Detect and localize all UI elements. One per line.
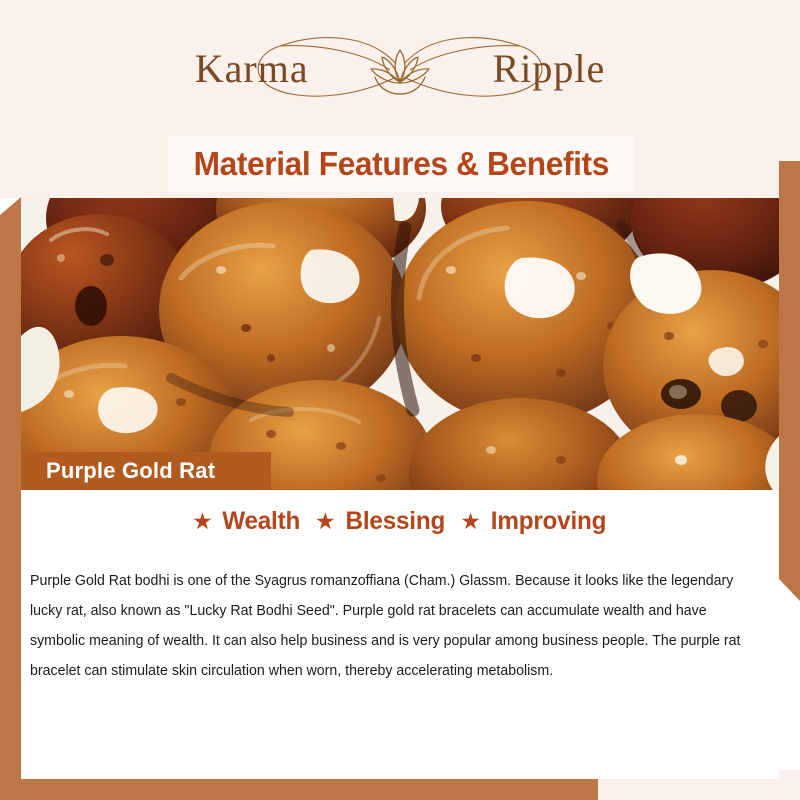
product-label-banner: Purple Gold Rat [21,452,271,490]
benefit-item-improving: ★ Improving [460,507,608,536]
benefit-item-blessing: ★ Blessing [315,507,446,536]
frame-right-border [779,161,800,601]
benefits-row: ★ Wealth ★ Blessing ★ Improving [21,507,779,536]
product-photo [21,198,779,490]
brand-logo-inner: Karma Ripple [170,28,630,110]
benefit-label: Improving [491,507,606,536]
star-icon: ★ [315,510,336,533]
brand-name-left: Karma [195,49,309,89]
lotus-icon [363,44,437,96]
description-panel: ★ Wealth ★ Blessing ★ Improving Purple G… [21,490,779,779]
frame-bottom-border [0,779,620,800]
benefit-item-wealth: ★ Wealth [192,507,301,536]
frame-left-border [0,197,21,783]
product-label: Purple Gold Rat [46,458,215,484]
frame-bottom-right-pink [598,779,800,800]
page-title: Material Features & Benefits [193,145,608,183]
benefit-label: Wealth [222,507,300,536]
section-title-band: Material Features & Benefits [168,136,634,192]
product-info-card: Karma Ripple Material Features & Benefit… [0,0,800,800]
star-icon: ★ [460,510,481,533]
bodhi-beads-illustration [21,198,779,490]
brand-logo: Karma Ripple [0,28,800,110]
star-icon: ★ [192,510,213,533]
description-text: Purple Gold Rat bodhi is one of the Syag… [30,566,765,686]
brand-name-right: Ripple [493,49,606,89]
benefit-label: Blessing [345,507,445,536]
